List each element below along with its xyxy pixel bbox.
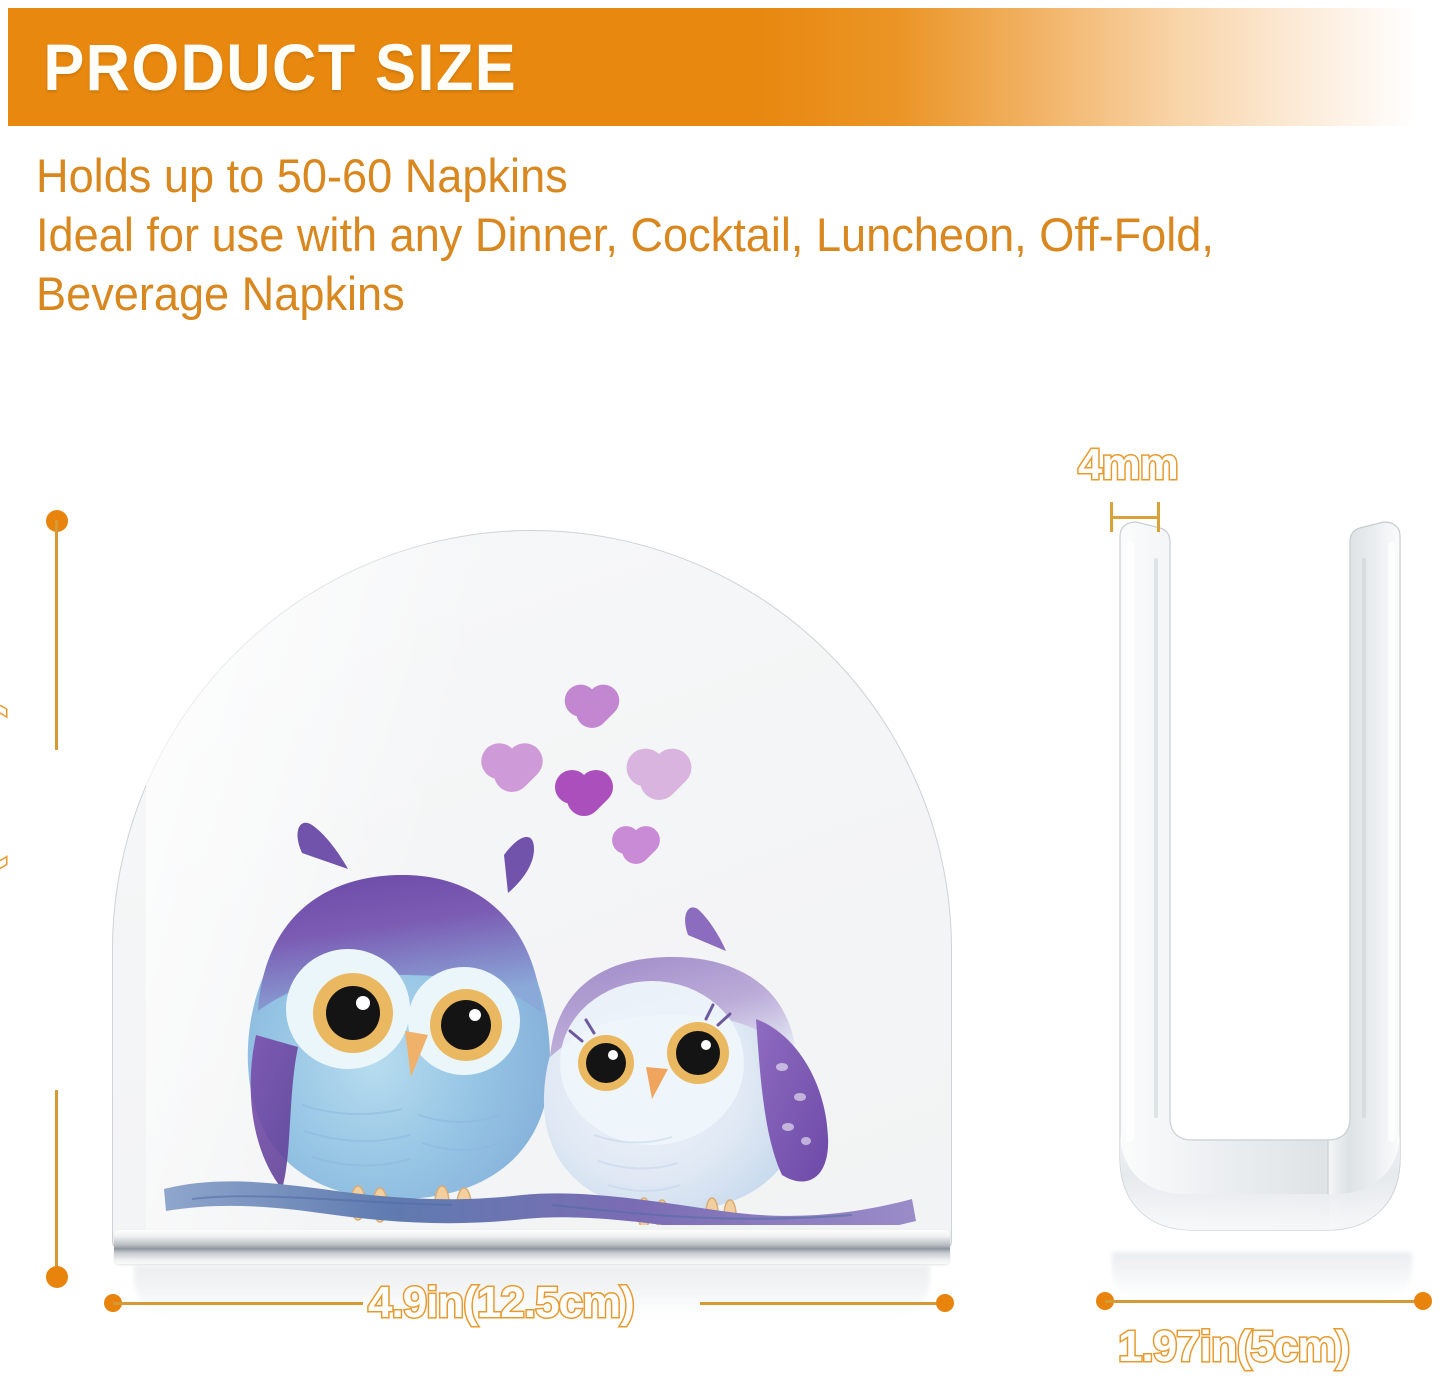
small-owl: [544, 907, 828, 1225]
panel-base-edge: [114, 1230, 950, 1264]
owl-pair-illustration: [152, 785, 942, 1225]
width-dim-right-line: [700, 1302, 940, 1305]
height-dim-upper-line: [55, 520, 58, 750]
branch-perch: [164, 1181, 916, 1225]
depth-dim-right-cap: [1414, 1292, 1432, 1310]
thickness-bar: [1111, 516, 1159, 519]
depth-dim-line: [1105, 1300, 1423, 1303]
side-view-product: [1090, 518, 1430, 1278]
large-owl: [248, 823, 550, 1222]
width-dim-left-line: [113, 1302, 363, 1305]
owl-pair-artwork: [152, 785, 942, 1225]
description-line-2: Ideal for use with any Dinner, Cocktail,…: [36, 205, 1370, 264]
height-dim-lower-line: [55, 1090, 58, 1280]
heart-icon: [569, 689, 614, 734]
product-size-header-band: PRODUCT SIZE: [8, 8, 1445, 126]
holder-reflection: [1112, 1252, 1412, 1298]
width-dimension-label: 4.9in(12.5cm): [368, 1278, 634, 1328]
page-title: PRODUCT SIZE: [8, 34, 517, 100]
height-dim-bottom-cap: [46, 1266, 68, 1288]
description-block: Holds up to 50-60 Napkins Ideal for use …: [36, 146, 1426, 324]
depth-dimension-label: 1.97in(5cm): [1118, 1322, 1349, 1372]
height-dimension-label: 4.1in(10.5cm): [0, 702, 8, 968]
thickness-dimension-annotation: 4mm: [1078, 440, 1318, 550]
u-shaped-acrylic-holder: [1090, 518, 1430, 1256]
front-panel-product: [112, 530, 952, 1270]
description-line-1: Holds up to 50-60 Napkins: [36, 146, 1370, 205]
thickness-dimension-label: 4mm: [1078, 440, 1178, 490]
description-line-3: Beverage Napkins: [36, 264, 1370, 323]
acrylic-arch-panel: [112, 530, 952, 1248]
width-dim-right-cap: [936, 1294, 954, 1312]
